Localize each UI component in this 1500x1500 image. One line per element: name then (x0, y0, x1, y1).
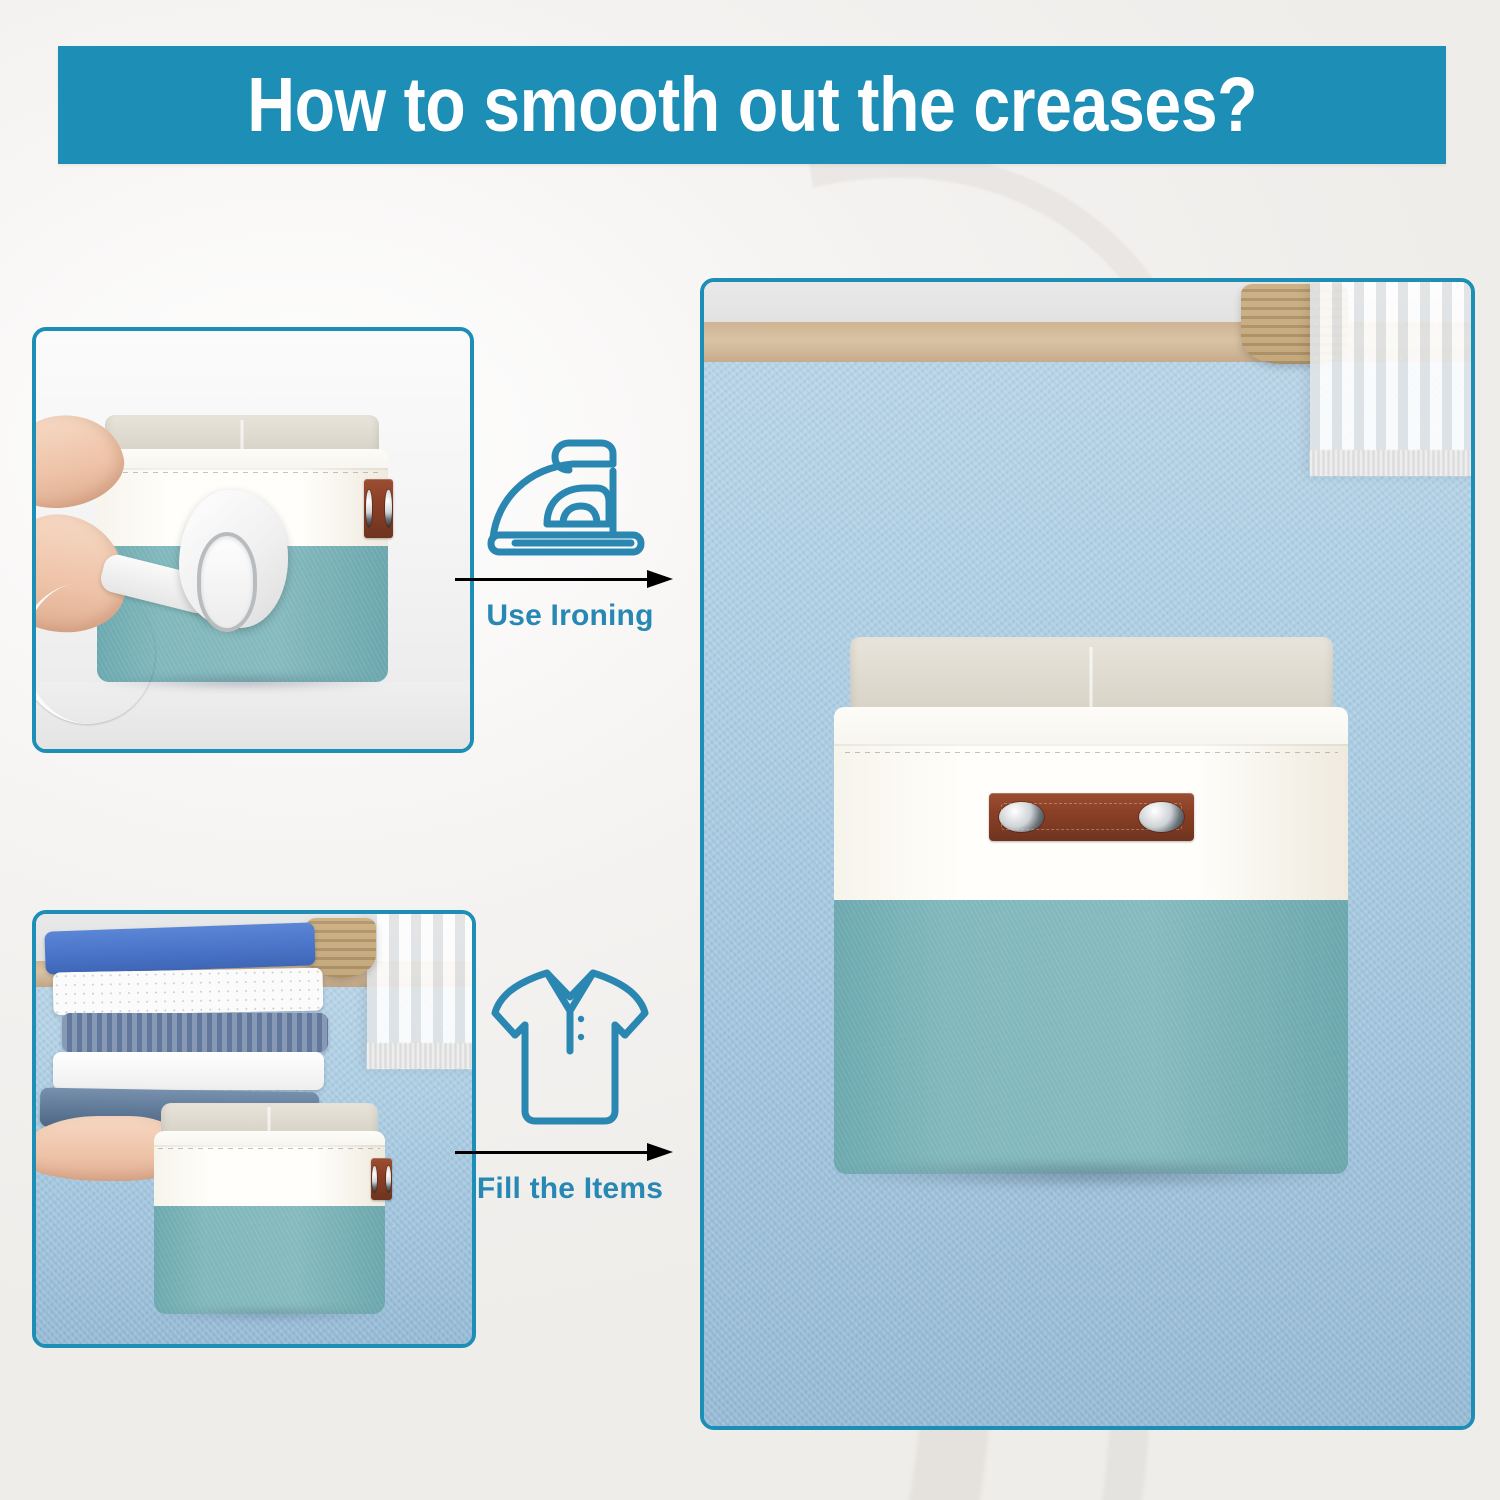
photo-steaming-basket (32, 327, 474, 753)
photo-basket-on-rug (700, 278, 1475, 1430)
infographic-stage: How to smooth out the creases? (0, 0, 1500, 1500)
step-arrow (455, 1141, 685, 1163)
basket-teal-body (154, 1206, 385, 1313)
photo-filling-basket-image (36, 914, 472, 1344)
basket-stitch-line (103, 472, 382, 473)
leather-handle (989, 793, 1195, 841)
window-curtain (1310, 282, 1471, 476)
page-title: How to smooth out the creases? (247, 61, 1257, 150)
photo-filling-basket (32, 910, 476, 1348)
basket-drop-shadow (149, 1308, 389, 1321)
basket-stitch-line (845, 752, 1338, 753)
steamer-soleplate (197, 532, 257, 632)
basket-side-handle (364, 479, 393, 538)
step-label-fill: Fill the Items (455, 1172, 685, 1206)
fabric-weave-texture (154, 1206, 385, 1313)
step-fill: Fill the Items (455, 955, 685, 1206)
basket-teal-body (834, 900, 1348, 1174)
curtain-fringe (1310, 450, 1471, 476)
storage-basket (834, 637, 1348, 1175)
folded-item-white-knit (53, 968, 324, 1016)
fabric-weave-texture (834, 900, 1348, 1174)
handle-stitching (1001, 803, 1182, 830)
basket-white-band (154, 1145, 385, 1208)
arrow-line (455, 578, 653, 581)
polo-shirt-icon (485, 961, 655, 1133)
arrow-head (647, 570, 673, 588)
photo-basket-on-rug-image (704, 282, 1471, 1426)
arrow-head (647, 1143, 673, 1161)
folded-item-striped (62, 1013, 328, 1052)
storage-basket (154, 1103, 385, 1314)
basket-stitch-line (158, 1148, 380, 1149)
header-banner: How to smooth out the creases? (58, 46, 1446, 164)
basket-drop-shadow (824, 1158, 1358, 1190)
arrow-line (455, 1151, 653, 1154)
photo-steaming-basket-image (36, 331, 470, 749)
polo-shirt-icon-wrap (455, 955, 685, 1133)
step-label-ironing: Use Ironing (455, 599, 685, 633)
iron-icon (481, 438, 659, 560)
basket-side-handle (371, 1158, 392, 1200)
step-ironing: Use Ironing (455, 430, 685, 633)
folded-item-white (53, 1052, 323, 1091)
step-arrow (455, 568, 685, 590)
iron-icon-wrap (455, 430, 685, 560)
